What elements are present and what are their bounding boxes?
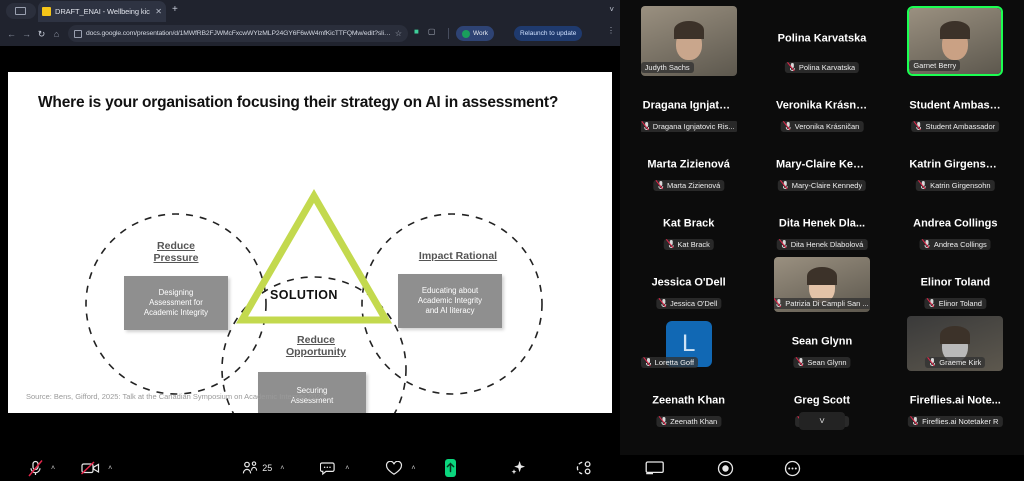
participant-tile[interactable]: Graeme Kirk	[907, 316, 1003, 371]
participants-count: 25	[262, 463, 272, 473]
participant-name-text: Kat Brack	[677, 240, 710, 249]
participant-name-chip: Mary-Claire Kennedy	[778, 180, 866, 191]
participant-name-chip: Katrin Girgensohn	[916, 180, 994, 191]
participant-tile[interactable]: Patrizia Di Campli San ...	[774, 257, 870, 312]
participant-tile[interactable]: Marta ZizienováMarta Zizienová	[641, 139, 737, 194]
participant-cell[interactable]: Zeenath KhanZeenath Khan	[622, 373, 755, 432]
participant-tile[interactable]: Fireflies.ai Note...Fireflies.ai Notetak…	[907, 375, 1003, 430]
participant-tile[interactable]: Polina KarvatskaPolina Karvatska	[774, 6, 870, 76]
browser-tab[interactable]: DRAFT_ENAI - Wellbeing kic ✕	[38, 1, 166, 22]
participant-cell[interactable]: Graeme Kirk	[889, 314, 1022, 373]
share-screen-icon	[445, 462, 456, 474]
mic-muted-icon	[915, 122, 922, 131]
whiteboard-icon	[645, 460, 665, 476]
share-screen-button[interactable]	[445, 459, 456, 477]
presentation-viewport: Where is your organisation focusing thei…	[0, 46, 620, 455]
mic-muted-icon	[660, 417, 667, 426]
participant-display-name: Student Ambass...	[907, 99, 1003, 111]
participant-name-chip: Judyth Sachs	[641, 62, 694, 73]
breakout-rooms-button[interactable]	[575, 460, 593, 476]
browser-menu-icon[interactable]: ⋮	[607, 27, 615, 35]
participant-name-chip: Dragana Ignjatovic Ris...	[641, 121, 737, 132]
participant-name-text: Judyth Sachs	[645, 63, 690, 72]
participant-cell[interactable]: Kat BrackKat Brack	[622, 196, 755, 255]
mic-muted-icon	[657, 181, 664, 190]
slides-favicon	[42, 7, 51, 16]
mic-muted-icon	[667, 240, 674, 249]
participant-cell[interactable]: Mary-Claire Ken...Mary-Claire Kennedy	[755, 137, 888, 196]
profile-avatar	[462, 30, 470, 38]
participant-name-text: Polina Karvatska	[799, 63, 855, 72]
browser-tabstrip: DRAFT_ENAI - Wellbeing kic ✕ + ˅	[0, 0, 620, 22]
extensions-puzzle-icon[interactable]: ▢	[428, 28, 436, 36]
participant-display-name: Fireflies.ai Note...	[907, 394, 1003, 406]
participant-display-name: Greg Scott	[774, 394, 870, 406]
participant-name-chip: Marta Zizienová	[653, 180, 724, 191]
participant-name-text: Student Ambassador	[925, 122, 995, 131]
mic-control[interactable]	[28, 460, 43, 477]
node-box-impact-rational: Educating aboutAcademic Integrityand AI …	[398, 274, 502, 328]
reactions-caret[interactable]: ˄	[411, 465, 415, 472]
solution-label: SOLUTION	[270, 288, 338, 302]
participant-name-text: Jessica O'Dell	[670, 299, 717, 308]
tab-search-icon	[15, 7, 26, 15]
participant-cell[interactable]: Jessica O'DellJessica O'Dell	[622, 255, 755, 314]
sparkle-icon	[510, 460, 527, 476]
participant-name-text: Garnet Berry	[913, 61, 956, 70]
address-bar[interactable]: docs.google.com/presentation/d/1MWfRB2FJ…	[68, 25, 408, 42]
extension-icon[interactable]: ■	[414, 28, 419, 36]
participant-display-name: Elinor Toland	[907, 276, 1003, 288]
chat-caret[interactable]: ˄	[345, 465, 349, 472]
participant-cell[interactable]: Sean GlynnSean Glynn	[755, 314, 888, 373]
show-more-participants-chevron-down-icon[interactable]: ˅	[799, 412, 845, 430]
participant-tile[interactable]: Jessica O'DellJessica O'Dell	[641, 257, 737, 312]
mic-muted-icon	[643, 122, 650, 131]
participants-button[interactable]: 25	[242, 461, 272, 475]
slide-canvas: Where is your organisation focusing thei…	[8, 72, 612, 413]
slide-source-citation: Source: Bens, Gifford, 2025: Talk at the…	[26, 392, 325, 401]
more-options-button[interactable]	[784, 460, 801, 477]
participant-tile[interactable]: Dragana Ignjato...Dragana Ignjatovic Ris…	[641, 80, 737, 135]
participant-name-chip: Loretta Goff	[641, 357, 698, 368]
profile-label: Work	[473, 30, 488, 37]
mic-muted-icon	[785, 122, 792, 131]
shared-screen-pane: DRAFT_ENAI - Wellbeing kic ✕ + ˅ ← → ↻ ⌂…	[0, 0, 620, 455]
mic-muted-icon	[645, 358, 652, 367]
mic-muted-icon	[797, 358, 804, 367]
reload-button[interactable]: ↻	[34, 29, 49, 40]
participant-display-name: Jessica O'Dell	[641, 276, 737, 288]
participant-tile[interactable]: Elinor TolandElinor Toland	[907, 257, 1003, 312]
home-button[interactable]: ⌂	[49, 29, 64, 39]
tab-title: DRAFT_ENAI - Wellbeing kic	[55, 7, 151, 16]
record-icon	[717, 460, 734, 477]
mic-muted-icon	[929, 299, 936, 308]
participant-tile[interactable]: Andrea CollingsAndrea Collings	[907, 198, 1003, 253]
mic-muted-icon	[782, 181, 789, 190]
node-heading-impact-rational: Impact Rational	[394, 250, 522, 262]
browser-chrome: DRAFT_ENAI - Wellbeing kic ✕ + ˅ ← → ↻ ⌂…	[0, 0, 620, 46]
participants-icon	[242, 461, 259, 475]
participant-name-chip: Zeenath Khan	[656, 416, 721, 427]
participant-name-text: Loretta Goff	[655, 358, 694, 367]
participant-cell[interactable]: Dragana Ignjato...Dragana Ignjatovic Ris…	[622, 78, 755, 137]
participant-display-name: Polina Karvatska	[774, 33, 870, 45]
participant-cell[interactable]: Katrin Girgenso...Katrin Girgensohn	[889, 137, 1022, 196]
participant-display-name: Zeenath Khan	[641, 394, 737, 406]
participant-name-chip: Garnet Berry	[909, 60, 960, 71]
participant-cell[interactable]: Greg ScottGreg Scott˅	[755, 373, 888, 432]
participant-cell[interactable]: Marta ZizienováMarta Zizienová	[622, 137, 755, 196]
close-icon[interactable]: ✕	[155, 8, 162, 16]
camera-off-icon	[81, 461, 100, 475]
heart-icon	[385, 461, 403, 476]
video-options-caret[interactable]: ˄	[108, 465, 112, 472]
participant-name-chip: Polina Karvatska	[785, 62, 859, 73]
participant-display-name: Marta Zizienová	[641, 158, 737, 170]
browser-toolbar: ← → ↻ ⌂ docs.google.com/presentation/d/1…	[0, 22, 620, 46]
participant-name-chip: Jessica O'Dell	[656, 298, 721, 309]
tab-search-button[interactable]	[6, 3, 36, 19]
relaunch-to-update-button[interactable]: Relaunch to update	[514, 26, 582, 41]
profile-chip[interactable]: Work	[456, 26, 494, 41]
node-box-reduce-pressure: DesigningAssessment forAcademic Integrit…	[124, 276, 228, 330]
participant-display-name: Sean Glynn	[774, 335, 870, 347]
participant-cell[interactable]: Andrea CollingsAndrea Collings	[889, 196, 1022, 255]
mic-muted-icon	[924, 240, 931, 249]
participant-cell[interactable]: Judyth Sachs	[622, 4, 755, 78]
participant-display-name: Andrea Collings	[907, 217, 1003, 229]
relaunch-label: Relaunch to update	[520, 30, 576, 37]
participant-name-text: Fireflies.ai Notetaker R	[922, 417, 998, 426]
microphone-muted-icon	[28, 460, 43, 477]
participant-tile[interactable]: Katrin Girgenso...Katrin Girgensohn	[907, 139, 1003, 194]
back-button[interactable]: ←	[4, 29, 19, 39]
participant-cell[interactable]: Garnet Berry	[889, 4, 1022, 78]
new-tab-button[interactable]: +	[172, 5, 178, 15]
ai-companion-button[interactable]	[510, 460, 527, 476]
participant-display-name: Dragana Ignjato...	[641, 99, 737, 111]
participant-tile[interactable]: Student Ambass...Student Ambassador	[907, 80, 1003, 135]
chat-icon	[320, 461, 337, 476]
participant-grid: Judyth SachsPolina KarvatskaPolina Karva…	[622, 4, 1022, 432]
participant-cell[interactable]: Polina KarvatskaPolina Karvatska	[755, 4, 888, 78]
mic-muted-icon	[781, 240, 788, 249]
mic-muted-icon	[920, 181, 927, 190]
chat-button[interactable]	[320, 461, 337, 476]
participant-name-text: Andrea Collings	[934, 240, 987, 249]
participant-name-chip: Student Ambassador	[911, 121, 999, 132]
participant-name-chip: Fireflies.ai Notetaker R	[908, 416, 1002, 427]
mic-muted-icon	[912, 417, 919, 426]
participant-cell[interactable]: Dita Henek Dla...Dita Henek Dlabolová	[755, 196, 888, 255]
participant-tile[interactable]: Dita Henek Dla...Dita Henek Dlabolová	[774, 198, 870, 253]
participant-tile[interactable]: Sean GlynnSean Glynn	[774, 316, 870, 371]
mic-muted-icon	[789, 63, 796, 72]
meeting-toolbar: ˄ ˄ 25 ˄ ˄	[0, 455, 1024, 481]
participant-name-text: Sean Glynn	[807, 358, 846, 367]
address-bar-url: docs.google.com/presentation/d/1MWfRB2FJ…	[86, 30, 391, 37]
participant-name-text: Patrizia Di Campli San ...	[785, 299, 868, 308]
participant-name-text: Katrin Girgensohn	[930, 181, 990, 190]
participant-name-text: Veronika Krásničan	[795, 122, 860, 131]
participant-tile[interactable]: LLoretta Goff	[641, 316, 737, 371]
forward-button[interactable]: →	[19, 29, 34, 39]
zoom-meeting-window: DRAFT_ENAI - Wellbeing kic ✕ + ˅ ← → ↻ ⌂…	[0, 0, 1024, 481]
participant-display-name: Katrin Girgenso...	[907, 158, 1003, 170]
participant-tile[interactable]: Mary-Claire Ken...Mary-Claire Kennedy	[774, 139, 870, 194]
video-control[interactable]	[81, 461, 100, 475]
participant-tile[interactable]: Zeenath KhanZeenath Khan	[641, 375, 737, 430]
reactions-button[interactable]	[385, 461, 403, 476]
toolbar-divider	[448, 28, 449, 39]
breakout-rooms-icon	[575, 460, 593, 476]
record-button[interactable]	[717, 460, 734, 477]
participant-tile[interactable]: Kat BrackKat Brack	[641, 198, 737, 253]
mic-muted-icon	[775, 299, 782, 308]
participant-gallery[interactable]: Judyth SachsPolina KarvatskaPolina Karva…	[620, 0, 1024, 455]
chevron-down-icon[interactable]: ˅	[609, 6, 614, 14]
participant-name-text: Elinor Toland	[939, 299, 982, 308]
mic-muted-icon	[660, 299, 667, 308]
participant-display-name: Veronika Krásni...	[774, 99, 870, 111]
participant-name-chip: Kat Brack	[663, 239, 714, 250]
participants-caret[interactable]: ˄	[280, 465, 284, 472]
more-ellipsis-icon	[784, 460, 801, 477]
node-heading-reduce-pressure: ReducePressure	[120, 240, 232, 265]
mic-muted-icon	[929, 358, 936, 367]
participant-name-chip: Andrea Collings	[920, 239, 991, 250]
participant-cell[interactable]: Patrizia Di Campli San ...	[755, 255, 888, 314]
venn-diagram-graphic	[8, 72, 612, 413]
participant-cell[interactable]: LLoretta Goff	[622, 314, 755, 373]
participant-display-name: Mary-Claire Ken...	[774, 158, 870, 170]
participant-name-text: Marta Zizienová	[667, 181, 720, 190]
participant-tile[interactable]: Garnet Berry	[907, 6, 1003, 76]
participant-name-text: Zeenath Khan	[670, 417, 717, 426]
participant-name-chip: Patrizia Di Campli San ...	[774, 298, 870, 309]
participant-name-chip: Elinor Toland	[925, 298, 986, 309]
participant-name-text: Graeme Kirk	[939, 358, 981, 367]
extension-icons: ■ ▢	[414, 28, 435, 36]
participant-tile[interactable]: Judyth Sachs	[641, 6, 737, 76]
participant-name-chip: Veronika Krásničan	[781, 121, 864, 132]
bookmark-star-icon[interactable]: ☆	[395, 29, 402, 38]
participant-display-name: Dita Henek Dla...	[774, 217, 870, 229]
participant-name-text: Mary-Claire Kennedy	[792, 181, 862, 190]
participant-name-text: Dragana Ignjatovic Ris...	[653, 122, 735, 131]
node-heading-reduce-opportunity: ReduceOpportunity	[260, 334, 372, 359]
page-info-icon[interactable]	[74, 30, 82, 38]
mic-options-caret[interactable]: ˄	[51, 465, 55, 472]
whiteboard-button[interactable]	[645, 460, 665, 476]
participant-name-chip: Sean Glynn	[793, 357, 850, 368]
participant-display-name: Kat Brack	[641, 217, 737, 229]
participant-cell[interactable]: Student Ambass...Student Ambassador	[889, 78, 1022, 137]
participant-cell[interactable]: Elinor TolandElinor Toland	[889, 255, 1022, 314]
participant-name-text: Dita Henek Dlabolová	[791, 240, 864, 249]
participant-tile[interactable]: Veronika Krásni...Veronika Krásničan	[774, 80, 870, 135]
participant-name-chip: Graeme Kirk	[925, 357, 985, 368]
participant-cell[interactable]: Fireflies.ai Note...Fireflies.ai Notetak…	[889, 373, 1022, 432]
participant-cell[interactable]: Veronika Krásni...Veronika Krásničan	[755, 78, 888, 137]
participant-name-chip: Dita Henek Dlabolová	[777, 239, 868, 250]
